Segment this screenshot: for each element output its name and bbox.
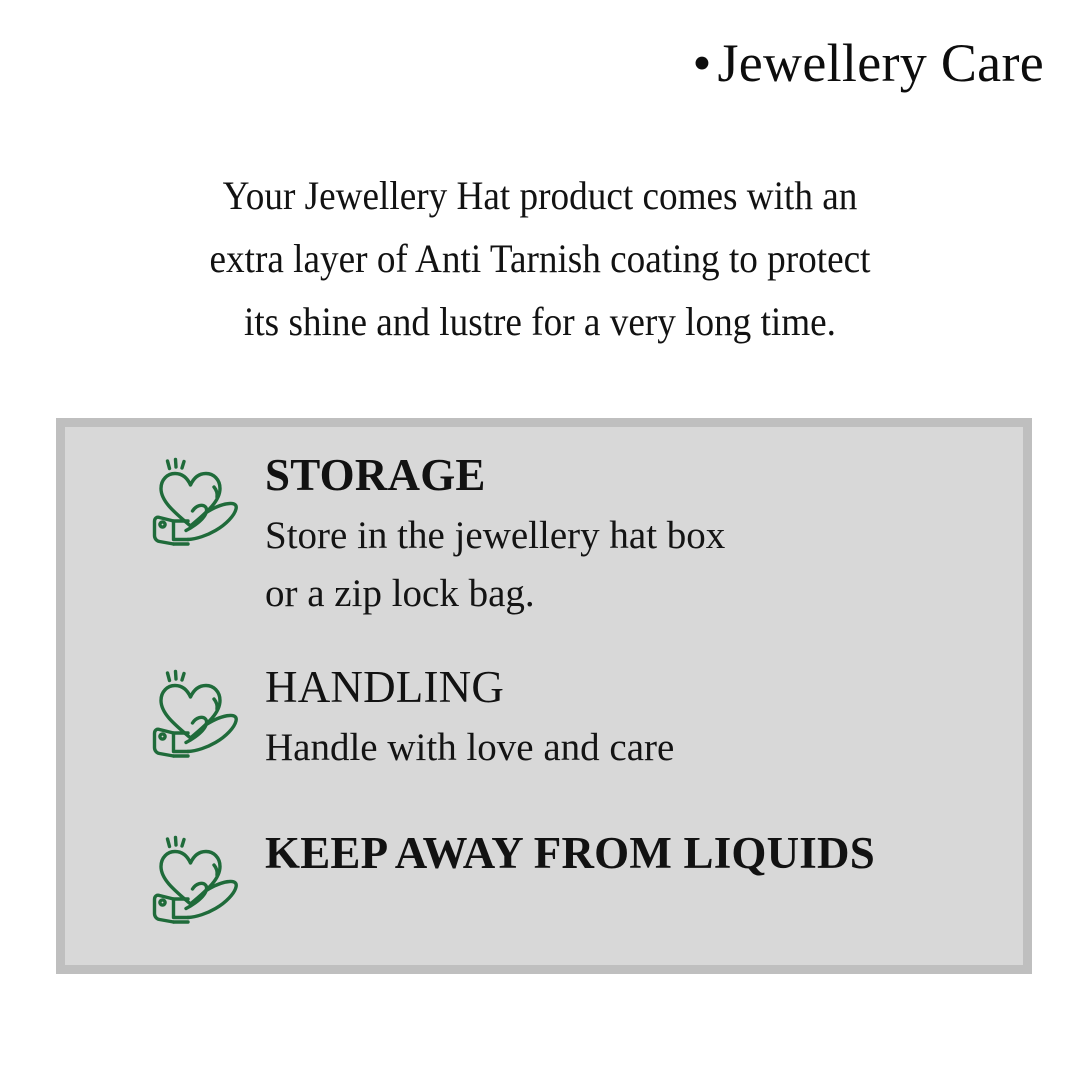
hand-holding-heart-icon (147, 667, 247, 767)
care-item-storage-text: STORAGE Store in the jewellery hat box o… (265, 447, 725, 623)
care-heading-storage: STORAGE (265, 450, 486, 500)
care-item-storage: STORAGE Store in the jewellery hat box o… (147, 447, 725, 623)
care-body-line: or a zip lock bag. (265, 565, 725, 623)
care-body-line: Handle with love and care (265, 719, 674, 777)
page-title-text: Jewellery Care (717, 34, 1044, 93)
care-instructions-panel: STORAGE Store in the jewellery hat box o… (56, 418, 1032, 974)
care-item-liquids-text: KEEP AWAY FROM LIQUIDS (265, 825, 875, 879)
bullet-glyph: • (693, 34, 712, 93)
care-instructions-panel-inner: STORAGE Store in the jewellery hat box o… (65, 427, 1023, 965)
hand-holding-heart-icon (147, 833, 247, 933)
hand-holding-heart-icon (147, 455, 247, 555)
intro-paragraph: Your Jewellery Hat product comes with an… (94, 164, 987, 353)
page-title: • Jewellery Care (0, 34, 1044, 93)
intro-line-2: extra layer of Anti Tarnish coating to p… (94, 227, 987, 290)
care-body-handling: Handle with love and care (265, 719, 674, 777)
care-item-liquids: KEEP AWAY FROM LIQUIDS (147, 825, 875, 933)
care-heading-liquids: KEEP AWAY FROM LIQUIDS (265, 828, 875, 878)
care-body-storage: Store in the jewellery hat box or a zip … (265, 507, 725, 623)
intro-line-1: Your Jewellery Hat product comes with an (94, 164, 987, 227)
care-item-handling-text: HANDLING Handle with love and care (265, 659, 674, 777)
care-heading-handling: HANDLING (265, 662, 504, 712)
intro-line-3: its shine and lustre for a very long tim… (94, 290, 987, 353)
care-body-line: Store in the jewellery hat box (265, 507, 725, 565)
care-item-handling: HANDLING Handle with love and care (147, 659, 674, 777)
